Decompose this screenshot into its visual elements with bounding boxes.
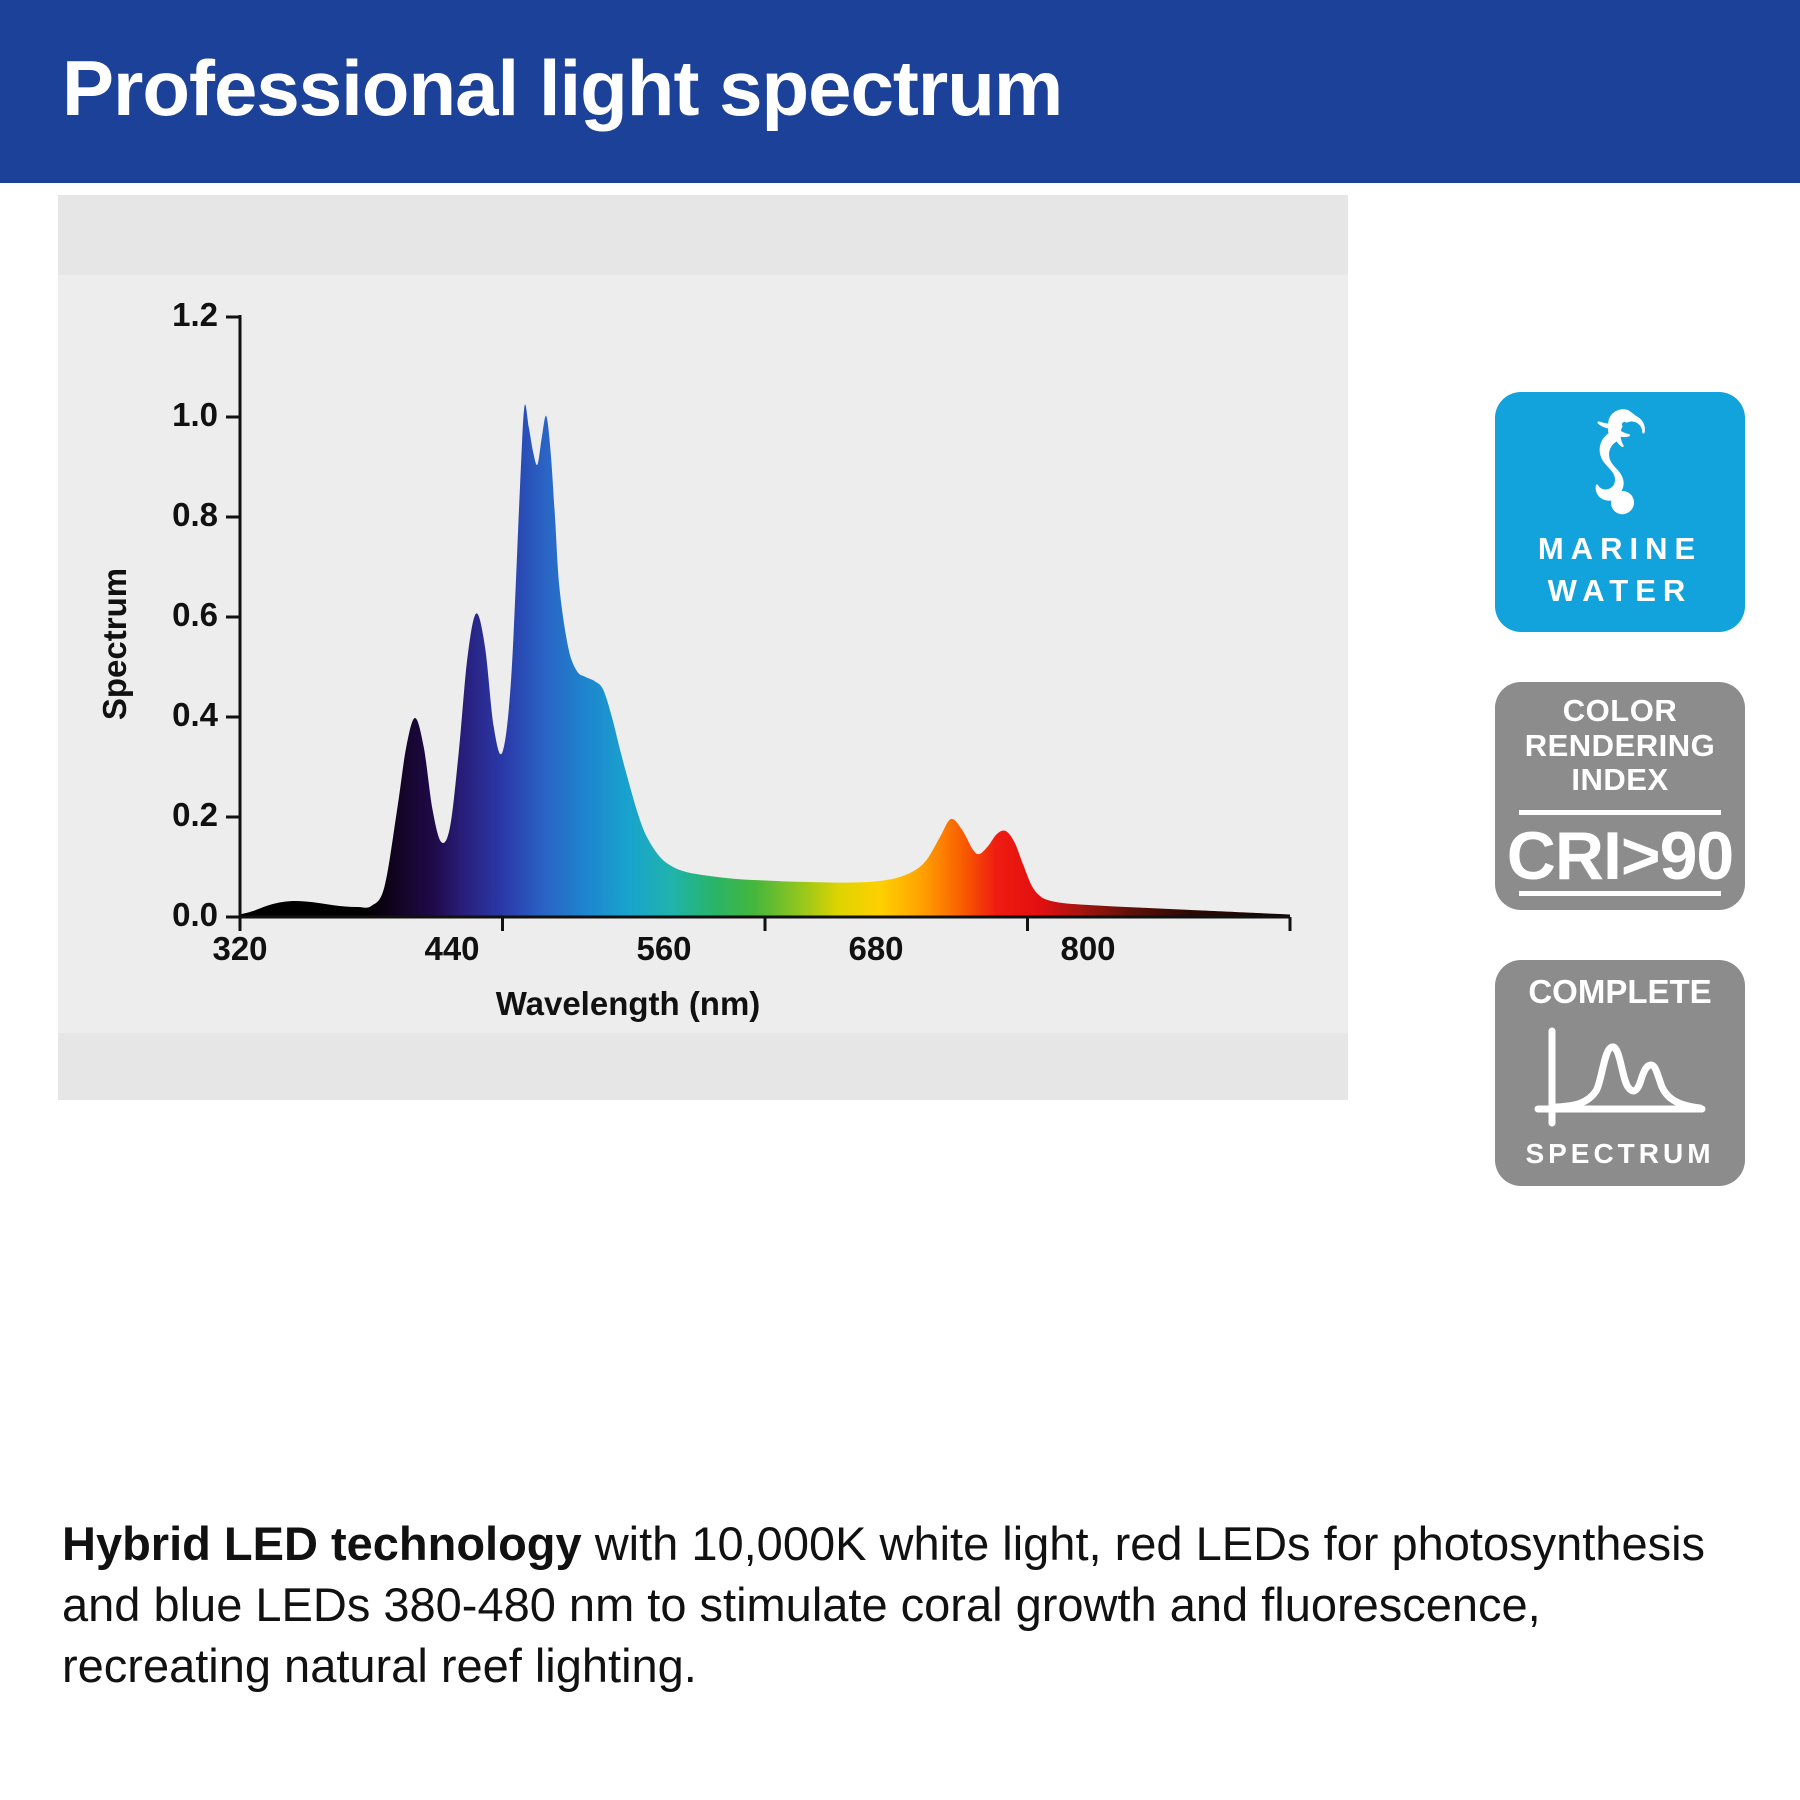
badge-cri-heading-line1: COLOR bbox=[1495, 694, 1745, 729]
footer-lead: Hybrid LED technology bbox=[62, 1517, 582, 1570]
page-header: Professional light spectrum bbox=[0, 0, 1800, 183]
spectrum-curve-icon bbox=[1495, 1022, 1745, 1132]
y-tick-label: 1.0 bbox=[118, 396, 218, 434]
y-tick-label: 0.0 bbox=[118, 896, 218, 934]
spectrum-plot-area: 1.2 1.0 0.8 0.6 0.4 0.2 0.0 320 440 560 … bbox=[58, 195, 1348, 1100]
badge-cri-rule-top bbox=[1519, 810, 1721, 815]
y-tick-label: 0.2 bbox=[118, 796, 218, 834]
badge-cri-value: CRI>90 bbox=[1495, 818, 1745, 894]
x-tick-label: 320 bbox=[190, 930, 290, 968]
y-axis-label: Spectrum bbox=[96, 524, 134, 764]
badge-cri-heading-line2: RENDERING bbox=[1495, 729, 1745, 764]
footer-description: Hybrid LED technology with 10,000K white… bbox=[62, 1513, 1722, 1696]
spectrum-chart-panel: 1.2 1.0 0.8 0.6 0.4 0.2 0.0 320 440 560 … bbox=[58, 195, 1348, 1100]
badge-color-rendering-index[interactable]: COLOR RENDERING INDEX CRI>90 bbox=[1495, 682, 1745, 910]
badge-complete-spectrum[interactable]: COMPLETE SPECTRUM bbox=[1495, 960, 1745, 1186]
x-tick-label: 440 bbox=[402, 930, 502, 968]
x-axis-label: Wavelength (nm) bbox=[58, 985, 1198, 1023]
feature-badges: MARINE WATER COLOR RENDERING INDEX CRI>9… bbox=[1495, 392, 1745, 1186]
seahorse-icon bbox=[1495, 406, 1745, 526]
badge-spectrum-footer: SPECTRUM bbox=[1495, 1138, 1745, 1169]
badge-marine-line2: WATER bbox=[1495, 574, 1745, 609]
y-tick-label: 1.2 bbox=[118, 296, 218, 334]
x-tick-label: 680 bbox=[826, 930, 926, 968]
badge-cri-rule-bottom bbox=[1519, 891, 1721, 896]
badge-spectrum-heading: COMPLETE bbox=[1495, 974, 1745, 1011]
x-tick-label: 560 bbox=[614, 930, 714, 968]
x-tick-label: 800 bbox=[1038, 930, 1138, 968]
badge-cri-heading: COLOR RENDERING INDEX bbox=[1495, 694, 1745, 798]
badge-marine-line1: MARINE bbox=[1495, 532, 1745, 567]
page-title: Professional light spectrum bbox=[62, 48, 1062, 130]
badge-cri-heading-line3: INDEX bbox=[1495, 763, 1745, 798]
badge-marine-water[interactable]: MARINE WATER bbox=[1495, 392, 1745, 632]
